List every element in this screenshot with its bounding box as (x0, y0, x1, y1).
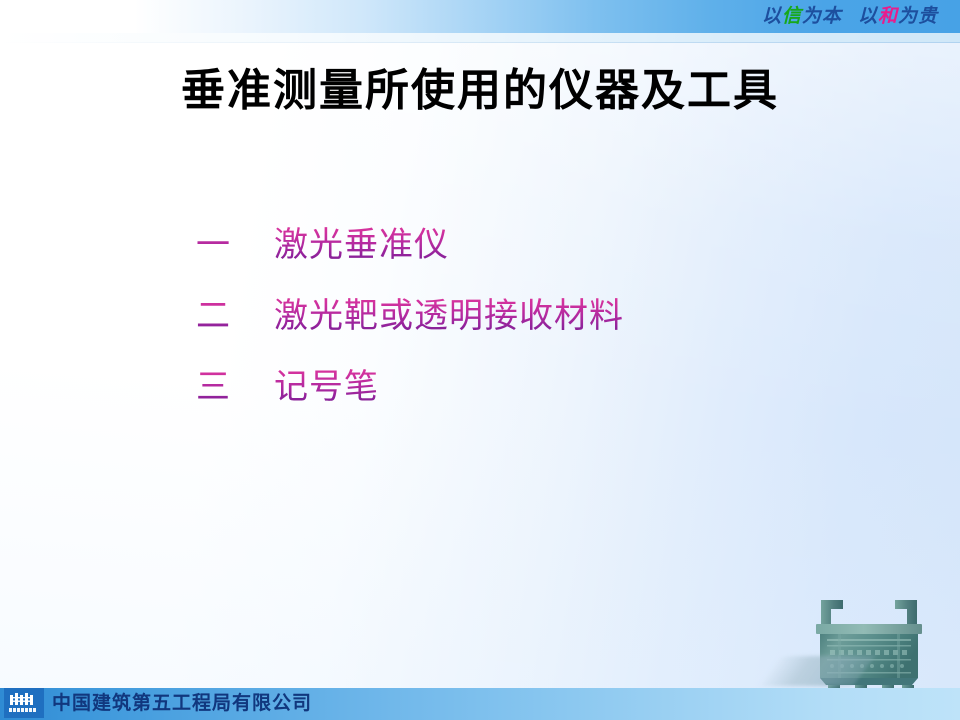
list-item-label: 记号笔 (274, 364, 379, 410)
slide-title: 垂准测量所使用的仪器及工具 (0, 62, 960, 120)
slogan-char-ben: 本 (822, 5, 842, 27)
top-banner-underline (0, 33, 960, 42)
cscec-logo-icon (4, 688, 44, 718)
slide-root: 以信为本 以和为贵 垂准测量所使用的仪器及工具 一 激光垂准仪 二 激光靶或透明… (0, 0, 960, 720)
list-item-number: 三 (196, 364, 274, 410)
slogan-phrase-two: 以和为贵 (858, 5, 938, 27)
slogan-char-xin: 信 (782, 5, 802, 27)
list-item-label: 激光靶或透明接收材料 (274, 293, 624, 339)
top-banner-hairline (0, 42, 960, 43)
slogan-char-he: 和 (878, 5, 898, 27)
list-item-label: 激光垂准仪 (274, 222, 449, 268)
list-item: 三 记号笔 (196, 364, 856, 410)
list-item-number: 二 (196, 293, 274, 339)
list-item: 一 激光垂准仪 (196, 222, 856, 268)
corporate-slogan: 以信为本 以和为贵 (762, 5, 938, 27)
list-item: 二 激光靶或透明接收材料 (196, 293, 856, 339)
slogan-char-yi-1: 以 (762, 5, 782, 27)
slogan-char-wei-2: 为 (898, 5, 918, 27)
slogan-char-wei-1: 为 (802, 5, 822, 27)
ding-rim (816, 624, 922, 634)
list-item-number: 一 (196, 222, 274, 268)
footer-company-name: 中国建筑第五工程局有限公司 (52, 690, 312, 716)
slogan-char-gui: 贵 (918, 5, 938, 27)
slogan-char-yi-2: 以 (858, 5, 878, 27)
ding-flange-right (897, 634, 900, 678)
content-list: 一 激光垂准仪 二 激光靶或透明接收材料 三 记号笔 (196, 222, 856, 435)
slogan-phrase-one: 以信为本 (762, 5, 842, 27)
